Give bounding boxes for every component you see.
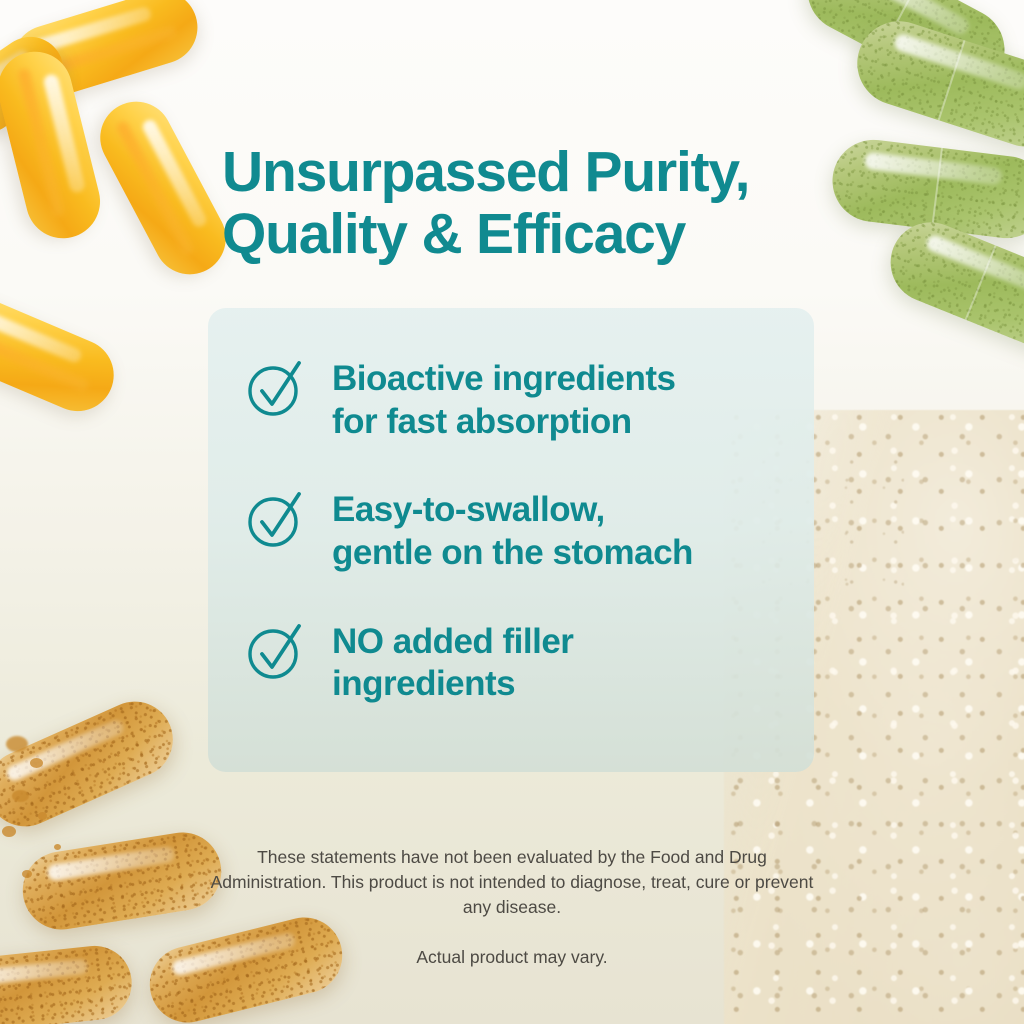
- benefit-item: Easy-to-swallow, gentle on the stomach: [242, 487, 792, 574]
- benefits-list: Bioactive ingredients for fast absorptio…: [242, 356, 792, 706]
- benefit-item: Bioactive ingredients for fast absorptio…: [242, 356, 792, 443]
- product-variance-note: Actual product may vary.: [205, 945, 819, 970]
- headline-line-2: Quality & Efficacy: [222, 204, 862, 266]
- powder-fleck: [6, 736, 28, 752]
- powder-fleck: [22, 870, 32, 878]
- check-circle-icon: [242, 617, 310, 685]
- fda-disclaimer-text: These statements have not been evaluated…: [205, 845, 819, 920]
- gold-turmeric-capsule: [0, 689, 185, 838]
- powder-fleck: [2, 826, 16, 837]
- benefit-text-line-1: Bioactive ingredients: [332, 358, 675, 401]
- green-herbal-capsule: [879, 210, 1024, 361]
- benefit-text-line-2: gentle on the stomach: [332, 532, 693, 575]
- powder-fleck: [30, 758, 43, 768]
- benefit-text: Easy-to-swallow, gentle on the stomach: [332, 487, 693, 574]
- yellow-softgel-capsule: [3, 0, 206, 107]
- check-circle-icon: [242, 485, 310, 553]
- check-circle-icon: [242, 354, 310, 422]
- disclaimer: These statements have not been evaluated…: [205, 845, 819, 969]
- powder-fleck: [38, 812, 47, 820]
- benefit-text-line-2: ingredients: [332, 663, 573, 706]
- benefits-card: Bioactive ingredients for fast absorptio…: [208, 308, 814, 772]
- powder-fleck: [12, 790, 29, 802]
- green-herbal-capsule: [846, 10, 1024, 157]
- benefit-text-line-1: NO added filler: [332, 621, 573, 664]
- yellow-softgel-capsule: [0, 24, 76, 146]
- benefit-text: Bioactive ingredients for fast absorptio…: [332, 356, 675, 443]
- benefit-text-line-2: for fast absorption: [332, 401, 675, 444]
- green-herbal-capsule: [793, 0, 1020, 107]
- benefit-text: NO added filler ingredients: [332, 619, 573, 706]
- promo-graphic: Unsurpassed Purity, Quality & Efficacy B…: [0, 0, 1024, 1024]
- yellow-softgel-capsule: [88, 89, 239, 287]
- page-title: Unsurpassed Purity, Quality & Efficacy: [222, 142, 862, 265]
- benefit-item: NO added filler ingredients: [242, 619, 792, 706]
- gold-turmeric-capsule: [17, 827, 227, 935]
- headline-line-1: Unsurpassed Purity,: [222, 142, 862, 204]
- yellow-softgel-capsule: [0, 286, 125, 423]
- powder-fleck: [54, 844, 61, 850]
- gold-turmeric-capsule: [0, 942, 135, 1024]
- yellow-softgel-capsule: [0, 44, 108, 246]
- benefit-text-line-1: Easy-to-swallow,: [332, 489, 693, 532]
